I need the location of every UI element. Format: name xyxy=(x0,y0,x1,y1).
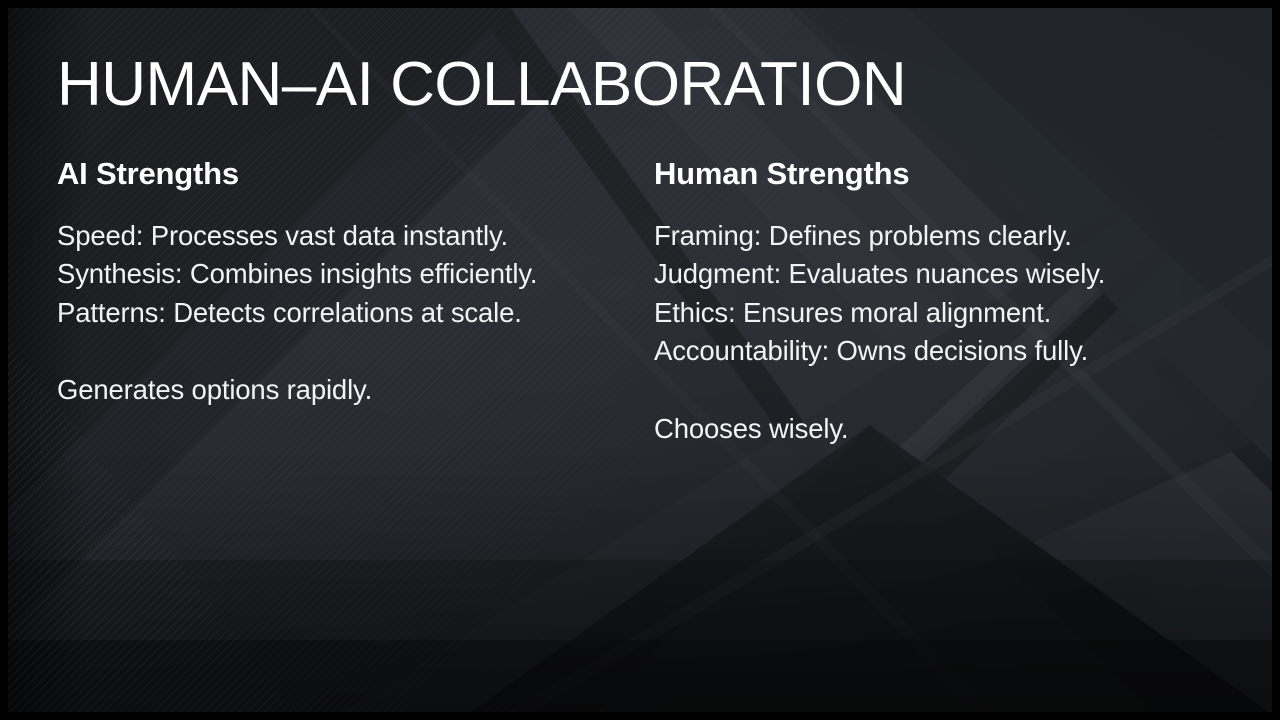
column-heading-ai-strengths: AI Strengths xyxy=(57,156,632,193)
column-body-human-strengths: Framing: Defines problems clearly.Judgme… xyxy=(654,217,1229,449)
column-closing-line: Chooses wisely. xyxy=(654,410,1229,449)
column-body-ai-strengths: Speed: Processes vast data instantly.Syn… xyxy=(57,217,632,410)
paragraph-spacer xyxy=(57,332,632,371)
column-body-paragraph: Framing: Defines problems clearly.Judgme… xyxy=(654,217,1229,371)
paragraph-spacer xyxy=(654,371,1229,410)
column-closing-line: Generates options rapidly. xyxy=(57,371,632,410)
column-heading-human-strengths: Human Strengths xyxy=(654,156,1229,193)
column-human-strengths: Human Strengths Framing: Defines problem… xyxy=(654,156,1229,448)
column-body-paragraph: Speed: Processes vast data instantly.Syn… xyxy=(57,217,632,333)
slide-title: HUMAN–AI COLLABORATION xyxy=(57,54,906,116)
slide-content: HUMAN–AI COLLABORATION AI Strengths Spee… xyxy=(0,0,1280,720)
slide-canvas: HUMAN–AI COLLABORATION AI Strengths Spee… xyxy=(0,0,1280,720)
column-ai-strengths: AI Strengths Speed: Processes vast data … xyxy=(57,156,632,410)
